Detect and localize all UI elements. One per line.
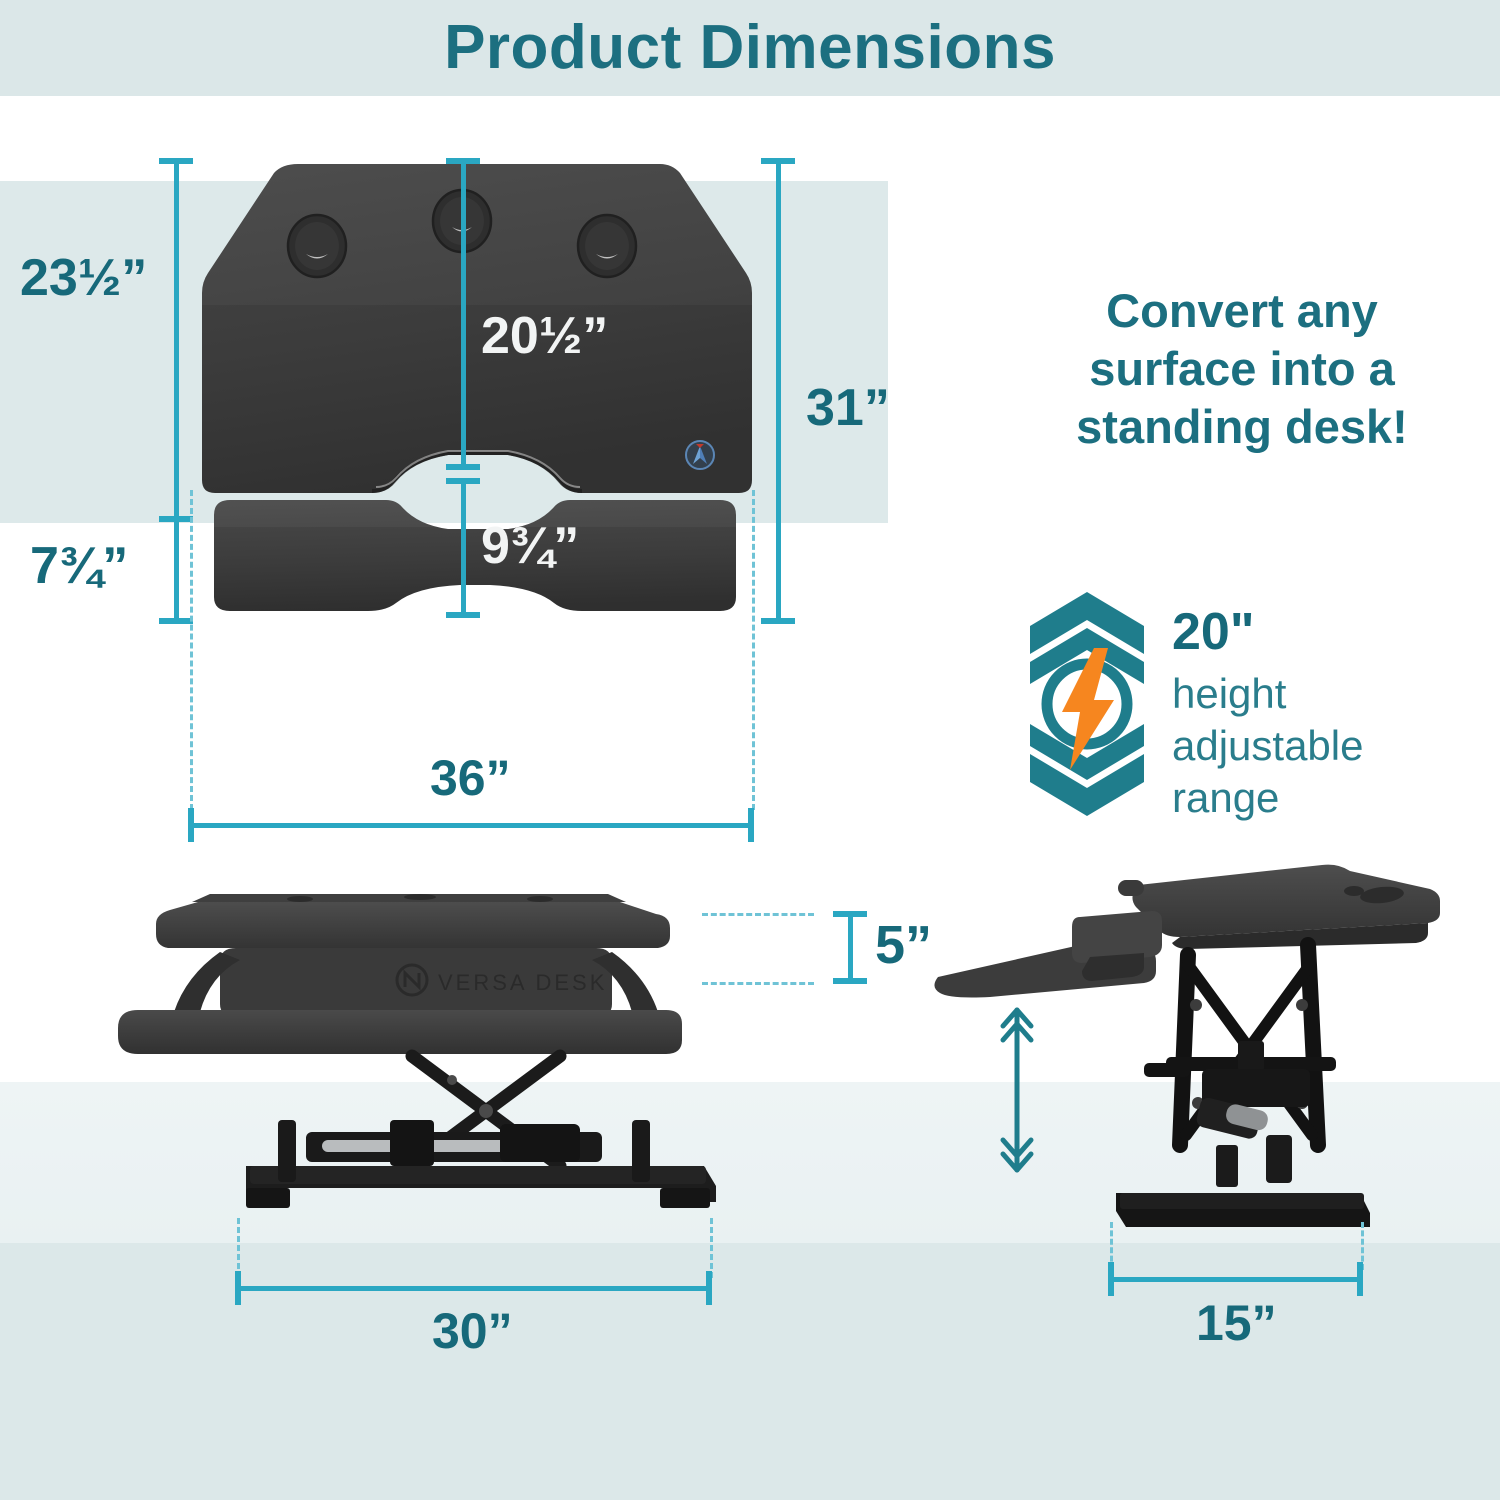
dimension-cap-top-20-5 [446,158,480,164]
dimension-label-20-5: 20½” [481,310,608,362]
feature-text-block: 20" height adjustable range [1172,606,1482,824]
versa-desk-emblem-icon [685,440,715,470]
dimension-cap-right-36 [748,808,754,842]
dimension-label-30: 30” [432,1306,513,1356]
dimension-cap-bottom-31 [761,618,795,624]
top-view-product-illustration [190,155,760,630]
dimension-cap-left-30 [235,1271,241,1305]
extension-line-right-36 [752,490,755,810]
dimension-line-30 [237,1286,710,1291]
extension-line-left-30 [237,1218,240,1278]
dimension-line-20-5 [461,160,466,468]
dimension-cap-top-9-75 [446,478,480,484]
dimension-cap-top-5 [833,911,867,917]
dimension-line-23-5 [174,160,179,623]
dimension-cap-top-23-5 [159,158,193,164]
dimension-cap-bottom-9-75 [446,612,480,618]
dimension-cap-bottom-20-5 [446,464,480,470]
tagline-line-1: Convert any [1012,282,1472,340]
dimension-label-5: 5” [875,918,932,972]
dimension-cap-mid-23-5 [159,516,193,522]
tagline-line-2: surface into a [1012,340,1472,398]
dimension-cap-left-36 [188,808,194,842]
extension-line-left-36 [190,490,193,810]
tagline-line-3: standing desk! [1012,398,1472,456]
dimension-line-15 [1110,1277,1361,1282]
dimension-line-9-75 [461,480,466,617]
dimension-cap-bottom-7-75 [159,618,193,624]
feature-line-1: height [1172,668,1482,720]
dimension-label-23-5: 23½” [20,252,147,304]
dimension-line-36 [190,823,752,828]
dimension-cap-right-15 [1357,1262,1363,1296]
dimension-label-31: 31” [806,382,890,434]
dimension-cap-bottom-5 [833,978,867,984]
dimension-cap-right-30 [706,1271,712,1305]
front-view-product-illustration: VERSA DESK [60,880,740,1220]
feature-value: 20" [1172,606,1482,658]
dimension-line-5 [848,913,853,983]
height-adjust-bolt-icon [1022,588,1152,820]
tagline-block: Convert any surface into a standing desk… [1012,282,1472,456]
dimension-cap-top-31 [761,158,795,164]
svg-text:VERSA DESK: VERSA DESK [438,970,607,995]
extension-line-right-30 [710,1218,713,1278]
dimension-label-9-75: 9¾” [481,520,579,572]
extension-line-top-5 [702,913,814,916]
dimension-cap-left-15 [1108,1262,1114,1296]
dimension-label-36: 36” [430,753,511,803]
feature-line-2: adjustable [1172,720,1482,772]
lift-range-arrow-icon [995,1000,1039,1180]
dimension-line-31 [776,160,781,623]
page-title: Product Dimensions [0,6,1500,90]
feature-line-3: range [1172,772,1482,824]
dimension-label-7-75: 7¾” [30,540,128,592]
cable-grommet-icon [288,215,346,277]
dimension-label-15: 15” [1196,1298,1277,1348]
extension-line-bottom-5 [702,982,814,985]
cable-grommet-icon [578,215,636,277]
